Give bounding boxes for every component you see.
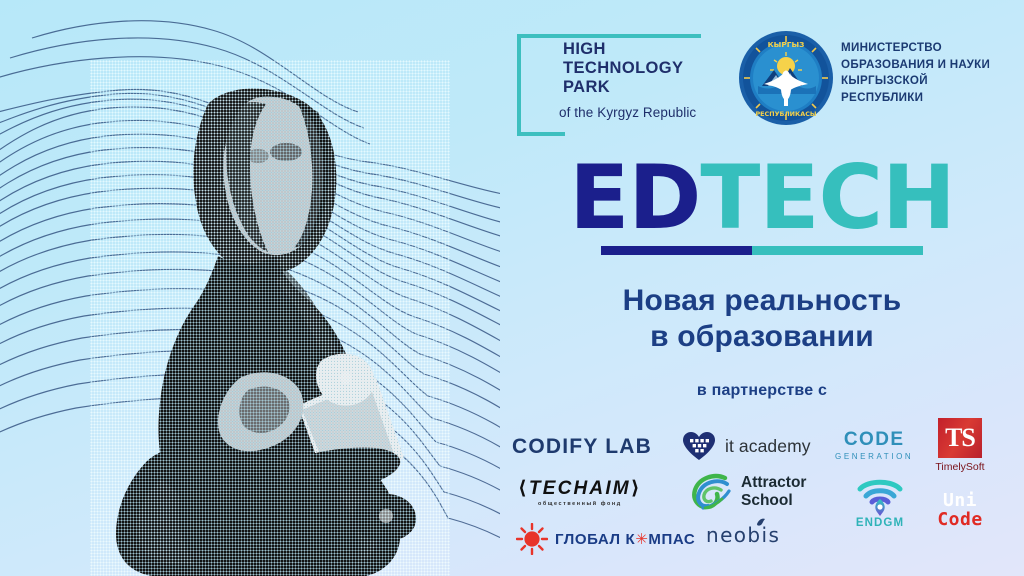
red-sun-compass-icon [516,523,548,555]
techaim-subtitle: общественный фонд [538,501,622,507]
partner-unicode[interactable]: Uni Code [924,491,996,529]
underline-teal-segment [752,246,923,255]
techaim-left-bracket-icon: ⟨ [518,478,529,499]
partner-logos: CODIFY LAB it academy CODE GENERATION [500,415,1024,575]
code-generation-subtitle: GENERATION [835,452,913,461]
ministry-line-3: КЫРГЫЗСКОЙ [841,73,990,90]
htp-line-1: HIGH [563,40,683,59]
title-part-tech: TECH [700,146,954,249]
techaim-wordmark: ⟨TECHAIM⟩ [518,477,642,500]
htp-line-2: TECHNOLOGY [563,59,683,78]
ministry-line-4: РЕСПУБЛИКИ [841,90,990,107]
partner-timelysoft[interactable]: TS TimelySoft [928,418,992,473]
svg-text:КЫРГЫЗ: КЫРГЫЗ [768,40,805,49]
title-part-ed: ED [569,146,700,249]
attractor-line-2: School [741,492,806,510]
tagline-line-1: Новая реальность [500,283,1024,319]
endgm-wordmark: ENDGM [856,517,904,529]
unicode-wordmark: Uni Code [937,491,982,529]
partner-endgm[interactable]: ENDGM [845,477,915,529]
global-compass-part-a: ГЛОБАЛ К [555,531,635,548]
htp-line-3: PARK [563,78,683,97]
codify-lab-wordmark: CODIFY LAB [512,435,652,459]
pixel-heart-icon [682,431,716,461]
htp-wordmark: HIGH TECHNOLOGY PARK [563,40,683,97]
title-underline [601,246,923,255]
artwork-panel [0,0,500,576]
partner-techaim[interactable]: ⟨TECHAIM⟩ общественный фонд [518,477,642,507]
partner-code-generation[interactable]: CODE GENERATION [835,430,913,461]
unicode-line-2: Code [937,510,982,529]
neobis-wordmark: neobis [706,523,780,547]
partner-attractor-school[interactable]: Attractor School [688,471,806,513]
timelysoft-wordmark: TimelySoft [935,461,984,473]
attractor-school-wordmark: Attractor School [741,474,806,510]
code-generation-wordmark: CODE [844,430,905,450]
edtech-poster: HIGH TECHNOLOGY PARK of the Kyrgyz Repub… [0,0,1024,576]
underline-navy-segment [601,246,752,255]
attractor-line-1: Attractor [741,474,806,492]
partner-global-compass[interactable]: ГЛОБАЛ К✳МПАС [516,523,695,555]
tagline: Новая реальность в образовании [500,283,1024,355]
partner-neobis[interactable]: neobis [706,523,790,547]
wifi-pen-icon [856,477,904,517]
ministry-logo: КЫРГЫЗ РЕСПУБЛИКАСЫ МИНИСТЕРСТВО ОБРАЗОВ… [738,26,1024,136]
it-academy-wordmark: it academy [725,436,811,457]
halftone-person-laptop-illustration [90,60,450,576]
timelysoft-mark-icon: TS [938,418,982,458]
partners-label: в партнерстве с [500,382,1024,400]
unicode-line-1: Uni [937,491,982,510]
partner-it-academy[interactable]: it academy [682,431,811,461]
global-compass-wordmark: ГЛОБАЛ К✳МПАС [555,530,695,548]
techaim-label: TECHAIM [529,478,631,499]
global-compass-part-b: МПАС [648,531,695,548]
timelysoft-monogram: TS [938,418,982,458]
bracket-frame-icon [517,34,555,136]
spiral-swirl-icon [688,471,732,513]
ministry-line-2: ОБРАЗОВАНИЯ И НАУКИ [841,57,990,74]
bird-icon [756,518,766,530]
global-compass-star-icon: ✳ [635,531,648,548]
techaim-right-bracket-icon: ⟩ [631,478,642,499]
svg-text:РЕСПУБЛИКАСЫ: РЕСПУБЛИКАСЫ [755,110,816,118]
high-technology-park-logo: HIGH TECHNOLOGY PARK of the Kyrgyz Repub… [517,30,707,134]
main-title: EDTECH [500,152,1024,255]
header-logos: HIGH TECHNOLOGY PARK of the Kyrgyz Repub… [500,26,1024,136]
tagline-line-2: в образовании [500,319,1024,355]
htp-subtitle: of the Kyrgyz Republic [559,105,696,120]
artwork-photo [90,60,450,576]
ministry-line-1: МИНИСТЕРСТВО [841,40,990,57]
kyrgyz-state-emblem-icon: КЫРГЫЗ РЕСПУБЛИКАСЫ [738,30,834,126]
partner-codify-lab[interactable]: CODIFY LAB [512,435,652,459]
ministry-wordmark: МИНИСТЕРСТВО ОБРАЗОВАНИЯ И НАУКИ КЫРГЫЗС… [841,40,990,106]
